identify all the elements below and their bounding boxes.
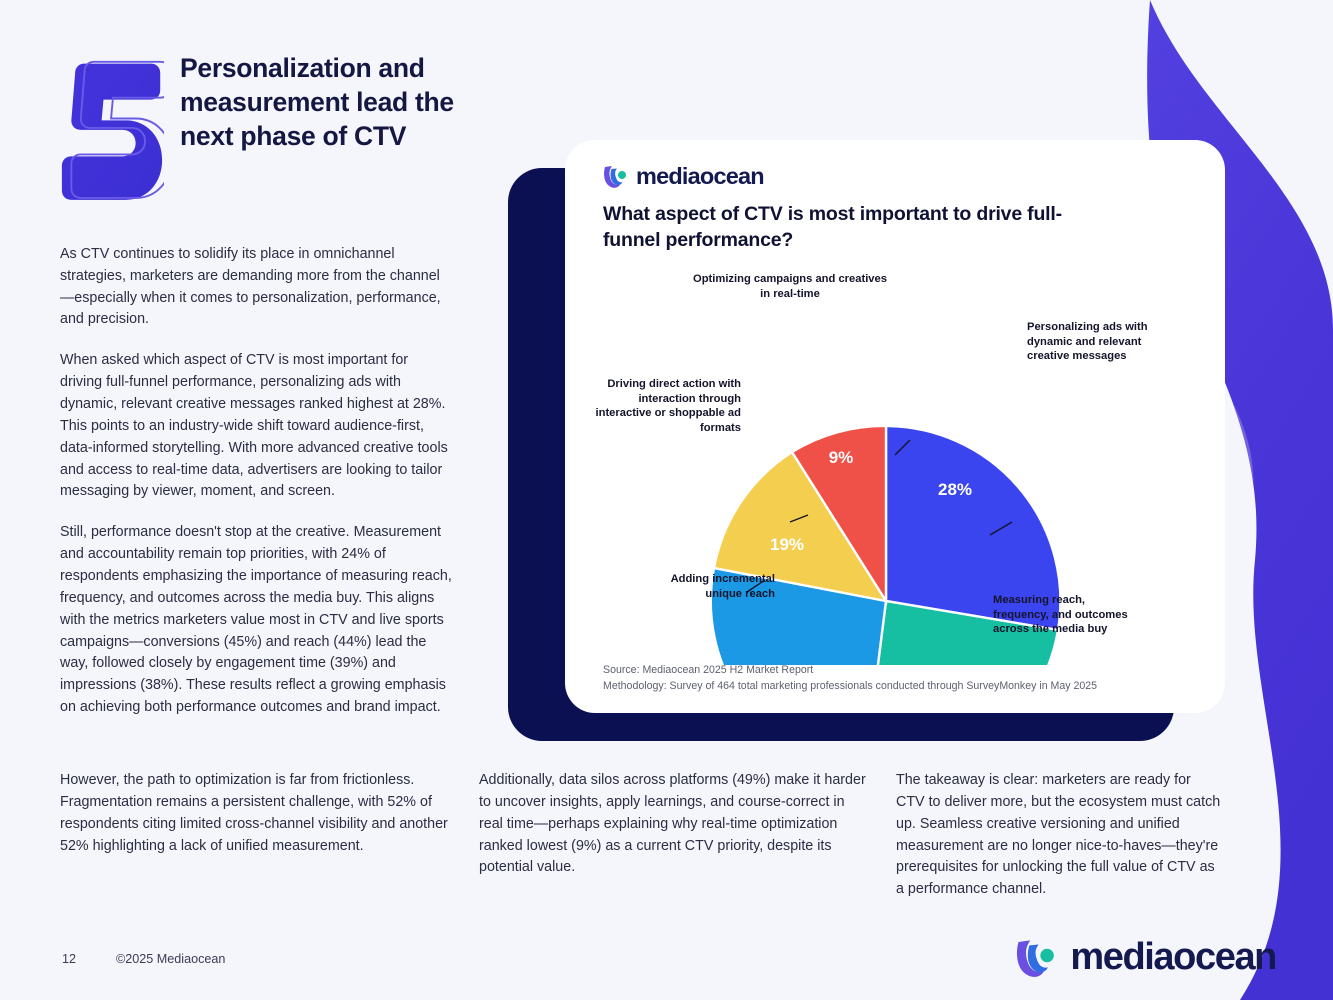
pie-value-9: 9% — [829, 448, 854, 467]
card-logo-text: mediaocean — [636, 163, 764, 190]
pie-value-28: 28% — [938, 480, 972, 499]
chart-title: What aspect of CTV is most important to … — [603, 202, 1083, 253]
intro-paragraph-3: Still, performance doesn't stop at the c… — [60, 522, 452, 719]
footer-logo-text: mediaocean — [1070, 936, 1276, 979]
chart-source-line: Source: Mediaocean 2025 H2 Market Report — [603, 662, 1097, 678]
pie-chart-area: 28% 24% 20% 19% 9% Optimizing campaigns … — [565, 250, 1225, 665]
intro-paragraph-1: As CTV continues to solidify its place i… — [60, 244, 452, 331]
footer-page-number: 12 — [62, 952, 76, 966]
headline-row: Personalization and measurement lead the… — [60, 52, 490, 200]
bottom-paragraph-2: Additionally, data silos across platform… — [479, 770, 869, 879]
intro-paragraphs: As CTV continues to solidify its place i… — [60, 244, 490, 719]
pie-label-adding: Adding incremental unique reach — [660, 572, 775, 601]
pie-label-measuring: Measuring reach, frequency, and outcomes… — [993, 593, 1143, 637]
footer-brand-logo: mediaocean — [1015, 936, 1276, 979]
card-brand-logo: mediaocean — [603, 163, 764, 190]
pie-label-driving: Driving direct action with interaction t… — [583, 377, 741, 436]
chart-card: mediaocean What aspect of CTV is most im… — [565, 140, 1225, 713]
pie-label-optimizing: Optimizing campaigns and creatives in re… — [690, 272, 890, 301]
mediaocean-logo-icon — [1015, 937, 1059, 979]
bottom-paragraph-3: The takeaway is clear: marketers are rea… — [896, 770, 1221, 901]
chart-methodology-line: Methodology: Survey of 464 total marketi… — [603, 678, 1097, 694]
bottom-paragraph-1: However, the path to optimization is far… — [60, 770, 452, 857]
bottom-column-middle: Additionally, data silos across platform… — [479, 770, 869, 901]
bottom-column-right: The takeaway is clear: marketers are rea… — [896, 770, 1221, 901]
pie-label-personalizing: Personalizing ads with dynamic and relev… — [1027, 320, 1167, 364]
page-title: Personalization and measurement lead the… — [180, 52, 490, 154]
section-number-five-graphic — [60, 58, 164, 200]
bottom-column-left: However, the path to optimization is far… — [60, 770, 452, 901]
chart-source-block: Source: Mediaocean 2025 H2 Market Report… — [603, 662, 1097, 695]
pie-value-19: 19% — [770, 535, 804, 554]
footer-copyright: ©2025 Mediaocean — [116, 952, 225, 966]
bottom-columns: However, the path to optimization is far… — [60, 770, 1235, 901]
intro-column: Personalization and measurement lead the… — [60, 52, 490, 738]
intro-paragraph-2: When asked which aspect of CTV is most i… — [60, 350, 452, 503]
mediaocean-logo-icon — [603, 164, 629, 189]
